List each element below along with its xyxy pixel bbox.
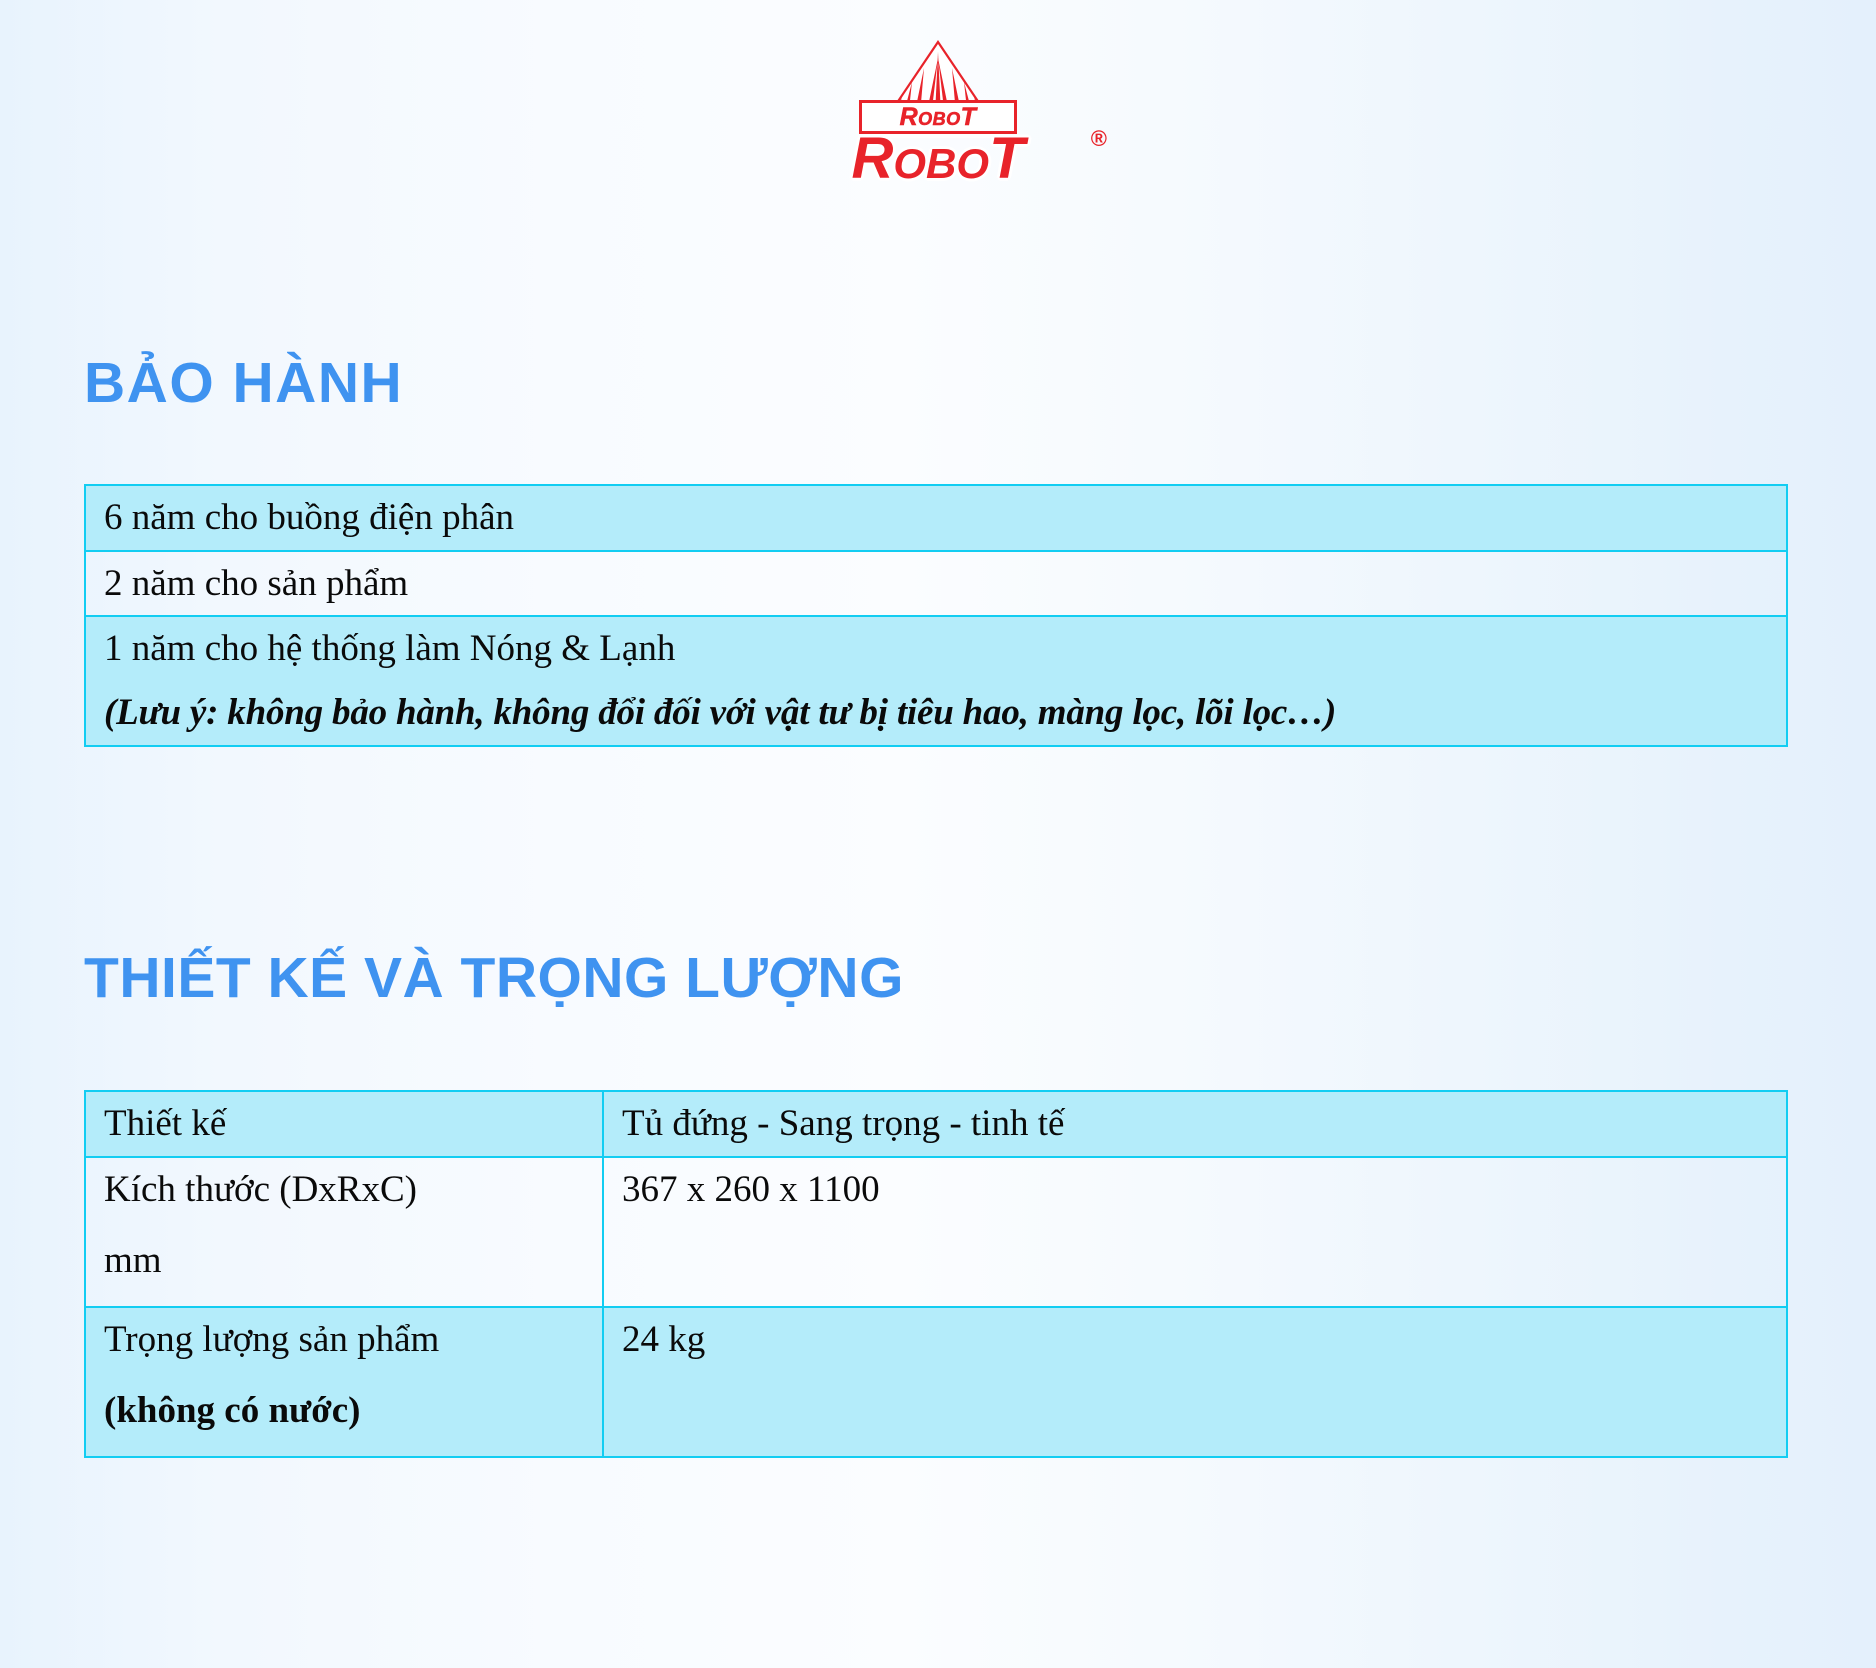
warranty-text: 6 năm cho buồng điện phân <box>104 497 514 538</box>
registered-trademark-icon: ® <box>1091 126 1107 152</box>
logo-badge-text: ROBOT <box>900 105 977 130</box>
warranty-table: 6 năm cho buồng điện phân 2 năm cho sản … <box>84 484 1788 747</box>
spec-label: Thiết kế <box>104 1103 226 1144</box>
warranty-text: 2 năm cho sản phẩm <box>104 563 408 604</box>
page-title-warranty: BẢO HÀNH <box>84 355 403 412</box>
spec-value-cell: Tủ đứng - Sang trọng - tinh tế <box>603 1091 1787 1157</box>
warranty-cell: 1 năm cho hệ thống làm Nóng & Lạnh (Lưu … <box>85 616 1787 745</box>
spec-label: Kích thước (DxRxC) <box>104 1169 417 1210</box>
design-weight-table: Thiết kế Tủ đứng - Sang trọng - tinh tế … <box>84 1090 1788 1458</box>
table-row: Thiết kế Tủ đứng - Sang trọng - tinh tế <box>85 1091 1787 1157</box>
logo-wordmark: ROBOT <box>852 130 1025 188</box>
spec-value: 367 x 260 x 1100 <box>622 1169 880 1210</box>
spec-label-cell: Trọng lượng sản phẩm (không có nước) <box>85 1307 603 1457</box>
spec-label-cell: Thiết kế <box>85 1091 603 1157</box>
spec-label-qualifier: (không có nước) <box>104 1389 602 1433</box>
spec-label-unit: mm <box>104 1239 602 1283</box>
table-row: 1 năm cho hệ thống làm Nóng & Lạnh (Lưu … <box>85 616 1787 745</box>
page-title-design: THIẾT KẾ VÀ TRỌNG LƯỢNG <box>84 950 904 1007</box>
warranty-cell: 6 năm cho buồng điện phân <box>85 485 1787 551</box>
spec-label-cell: Kích thước (DxRxC) mm <box>85 1157 603 1307</box>
spec-value-cell: 367 x 260 x 1100 <box>603 1157 1787 1307</box>
table-row: 2 năm cho sản phẩm <box>85 551 1787 617</box>
table-row: Trọng lượng sản phẩm (không có nước) 24 … <box>85 1307 1787 1457</box>
table-row: Kích thước (DxRxC) mm 367 x 260 x 1100 <box>85 1157 1787 1307</box>
spec-value: Tủ đứng - Sang trọng - tinh tế <box>622 1103 1064 1144</box>
warranty-note: (Lưu ý: không bảo hành, không đổi đối vớ… <box>104 691 1786 735</box>
spec-value-cell: 24 kg <box>603 1307 1787 1457</box>
robot-logo: ROBOT ROBOT ® <box>773 38 1103 188</box>
brand-logo-area: ROBOT ROBOT ® <box>0 38 1876 198</box>
warranty-text: 1 năm cho hệ thống làm Nóng & Lạnh <box>104 628 675 669</box>
spec-value: 24 kg <box>622 1319 705 1360</box>
spec-label: Trọng lượng sản phẩm <box>104 1319 439 1360</box>
warranty-cell: 2 năm cho sản phẩm <box>85 551 1787 617</box>
table-row: 6 năm cho buồng điện phân <box>85 485 1787 551</box>
